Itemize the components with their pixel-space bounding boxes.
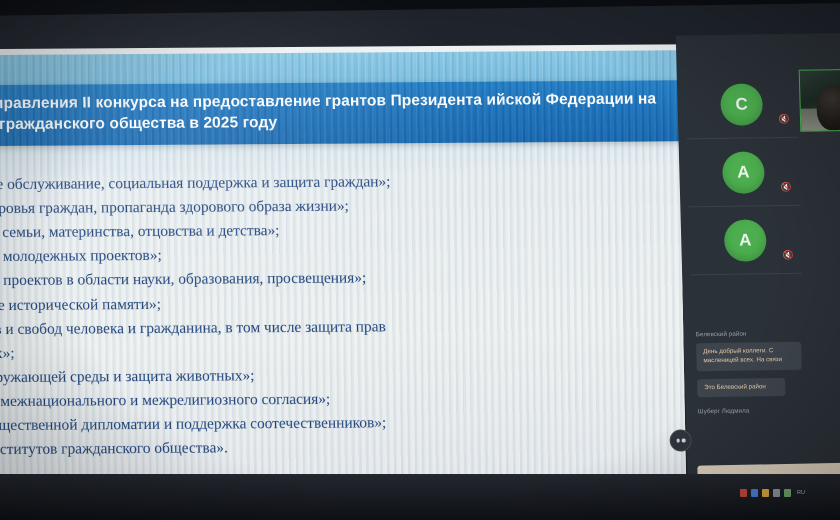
avatar: A xyxy=(722,151,765,194)
taskbar-icon[interactable] xyxy=(740,489,747,497)
active-speaker-video-tile[interactable] xyxy=(799,69,840,132)
chat-message: День добрый коллеги. С масленицей всех. … xyxy=(696,342,802,371)
chat-sender-name: Шуберг Людмила xyxy=(698,406,840,416)
presentation-slide: товые направления II конкурса на предост… xyxy=(0,50,687,507)
dot-icon xyxy=(676,439,680,443)
participant-tile[interactable]: C 🔇 xyxy=(685,70,799,140)
taskbar-icon[interactable] xyxy=(751,489,758,497)
mic-off-icon: 🔇 xyxy=(782,251,793,260)
participant-tile[interactable]: A 🔇 xyxy=(687,138,801,208)
monitor: товые направления II конкурса на предост… xyxy=(0,0,840,520)
taskbar-clock: RU xyxy=(797,490,805,496)
mic-off-icon: 🔇 xyxy=(779,115,790,124)
avatar: A xyxy=(724,219,767,262)
chat-message: Это Белевский район xyxy=(697,378,786,398)
conference-sidebar: 1/5 C 🔇 A 🔇 A 🔇 xyxy=(676,33,840,502)
video-person-silhouette xyxy=(816,84,840,130)
slide-title: товые направления II конкурса на предост… xyxy=(0,80,687,147)
screenshot-root: товые направления II конкурса на предост… xyxy=(0,0,840,520)
monitor-screen: товые направления II конкурса на предост… xyxy=(0,3,840,516)
mic-off-icon: 🔇 xyxy=(781,183,792,192)
slide-list-item: азвитие институтов гражданского общества… xyxy=(0,433,686,462)
taskbar-icon[interactable] xyxy=(762,489,769,497)
os-taskbar: RU xyxy=(740,484,840,502)
taskbar-icon[interactable] xyxy=(773,489,780,497)
shared-presentation-area[interactable]: товые направления II конкурса на предост… xyxy=(0,44,687,509)
chat-sender-name: Белевский район xyxy=(696,329,840,339)
avatar: C xyxy=(720,83,763,126)
taskbar-icon[interactable] xyxy=(784,489,791,497)
participant-tile[interactable]: A 🔇 xyxy=(688,206,802,276)
desk-surface xyxy=(0,474,840,520)
dot-icon xyxy=(682,439,686,443)
slide-body: Социальное обслуживание, социальная подд… xyxy=(0,168,687,463)
